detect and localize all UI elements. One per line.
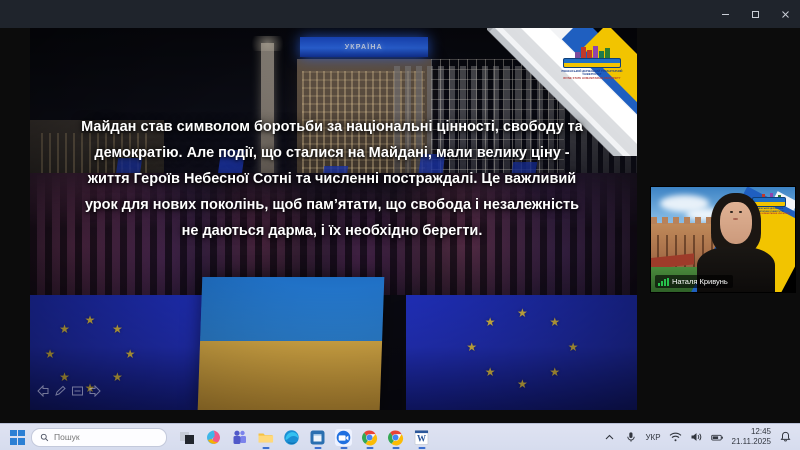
participant-name-badge: Наталя Кривунь: [655, 275, 733, 288]
taskbar-app-copilot[interactable]: [205, 429, 222, 446]
speaker-icon: [690, 431, 703, 443]
university-logo: РІВНЕНСЬКИЙ ДЕРЖАВНИЙ ГУМАНІТАРНИЙ УНІВЕ…: [553, 46, 631, 94]
presenter-toolbar[interactable]: [36, 384, 101, 398]
menu-icon: [71, 385, 84, 397]
copilot-icon: [205, 429, 222, 446]
clock-time: 12:45: [732, 427, 771, 437]
presentation-stage: УКРАЇНА: [0, 28, 800, 424]
tray-language-indicator[interactable]: УКР: [645, 433, 660, 442]
taskbar-app-edge[interactable]: [283, 429, 300, 446]
start-button[interactable]: [10, 430, 25, 445]
taskbar-app-teams[interactable]: [231, 429, 248, 446]
taskbar-app-file-explorer[interactable]: [257, 429, 274, 446]
slide-caption-text: Майдан став символом боротьби за націона…: [76, 114, 588, 244]
participant-name-label: Наталя Кривунь: [672, 277, 728, 286]
taskbar-app-word[interactable]: W: [413, 429, 430, 446]
restore-icon: [750, 9, 761, 20]
chevron-up-icon: [604, 432, 615, 443]
tray-wifi-icon[interactable]: [669, 431, 682, 444]
presentation-window: УКРАЇНА: [0, 0, 800, 424]
window-titlebar: [0, 0, 800, 28]
tray-notifications-button[interactable]: [779, 431, 792, 444]
edge-icon: [283, 429, 300, 446]
window-close-button[interactable]: [770, 1, 800, 27]
taskbar-search[interactable]: [31, 428, 167, 447]
clock-date: 21.11.2025: [732, 437, 771, 447]
close-icon: [780, 9, 791, 20]
teams-icon: [231, 429, 248, 446]
microphone-icon: [625, 431, 637, 443]
university-name-ua: РІВНЕНСЬКИЙ ДЕРЖАВНИЙ ГУМАНІТАРНИЙ УНІВЕ…: [555, 70, 629, 77]
taskbar-app-microsoft-store[interactable]: [309, 429, 326, 446]
tray-volume-icon[interactable]: [690, 431, 703, 444]
pen-tool-button[interactable]: [53, 384, 67, 398]
word-icon: W: [413, 429, 430, 446]
clock[interactable]: 12:45 21.11.2025: [732, 427, 771, 447]
screen: УКРАЇНА: [0, 0, 800, 450]
window-minimize-button[interactable]: [710, 1, 740, 27]
search-icon: [40, 433, 49, 442]
arrow-left-icon: [37, 385, 50, 397]
taskbar-app-chrome[interactable]: [361, 429, 378, 446]
taskbar-app-chrome-second[interactable]: [387, 429, 404, 446]
tray-battery-icon[interactable]: [711, 431, 724, 444]
participant-video-tile[interactable]: РІВНЕНСЬКИЙ ДЕРЖАВНИЙ ГУМАНІТАРНИЙ УНІВЕ…: [650, 186, 796, 293]
window-maximize-button[interactable]: [740, 1, 770, 27]
taskbar-app-task-view[interactable]: [179, 429, 196, 446]
slide[interactable]: УКРАЇНА: [30, 28, 637, 410]
folder-icon: [257, 429, 274, 446]
arrow-right-icon: [88, 385, 101, 397]
tray-microphone-icon[interactable]: [624, 431, 637, 444]
search-input[interactable]: [54, 432, 144, 442]
next-slide-button[interactable]: [87, 384, 101, 398]
chrome-icon: [361, 429, 378, 446]
previous-slide-button[interactable]: [36, 384, 50, 398]
university-emblem-icon: [563, 46, 621, 68]
pen-icon: [54, 385, 67, 397]
minimize-icon: [720, 9, 731, 20]
zoom-icon: [335, 429, 352, 446]
taskbar: W УКР: [0, 423, 800, 450]
university-name-en: RIVNE STATE HUMANITARIAN UNIVERSITY: [555, 77, 629, 80]
store-icon: [309, 429, 326, 446]
svg-text:W: W: [417, 433, 426, 443]
slide-menu-button[interactable]: [70, 384, 84, 398]
bell-icon: [780, 431, 791, 443]
tray-overflow-button[interactable]: [603, 431, 616, 444]
chrome-icon: [387, 429, 404, 446]
battery-icon: [711, 432, 724, 443]
task-view-icon: [179, 429, 196, 446]
wifi-icon: [669, 431, 682, 443]
taskbar-app-zoom[interactable]: [335, 429, 352, 446]
signal-strength-icon: [658, 278, 669, 286]
